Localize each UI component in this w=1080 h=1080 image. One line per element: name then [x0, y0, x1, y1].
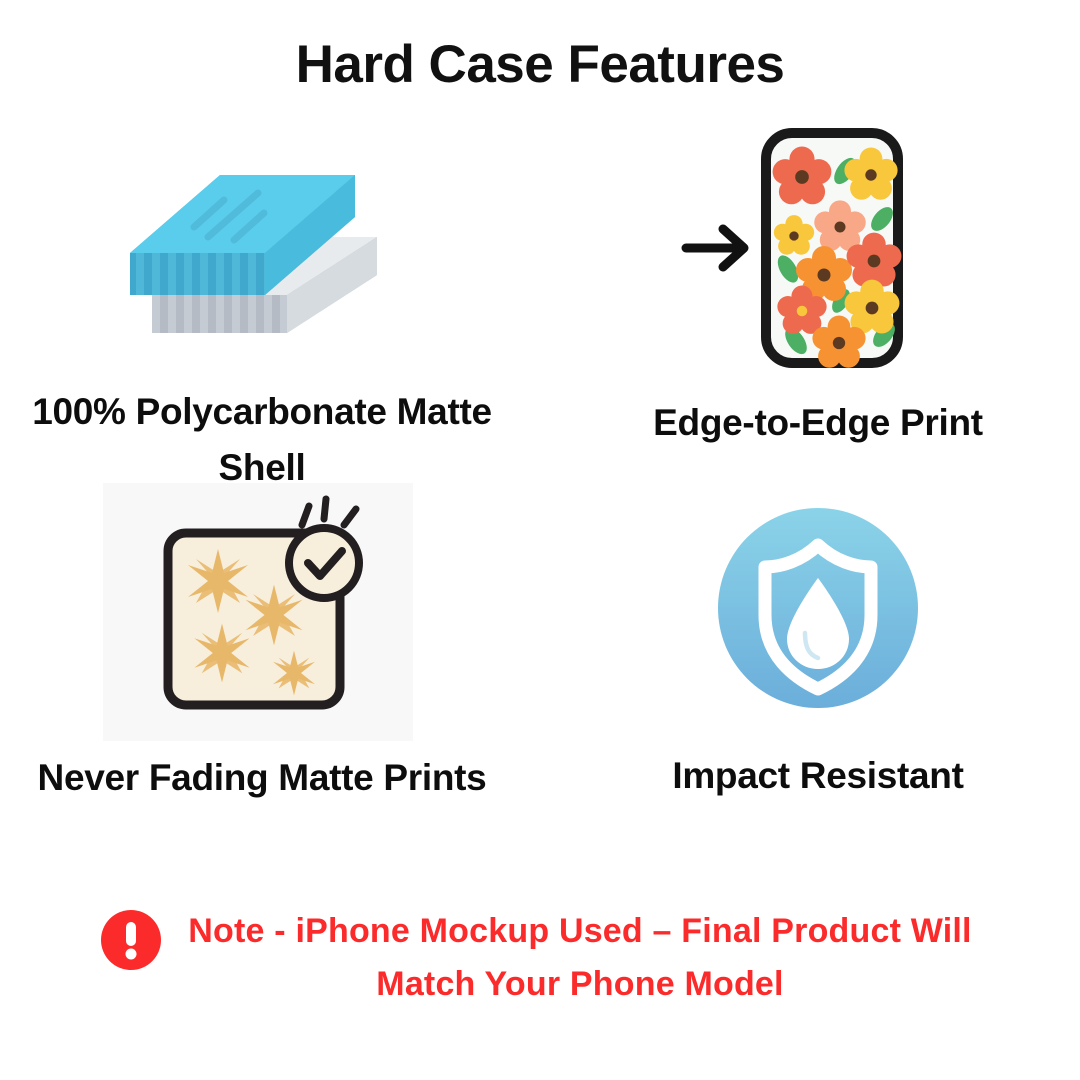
feature-label-edgeprint: Edge-to-Edge Print — [578, 395, 1058, 451]
floral-phone-case-icon — [668, 123, 968, 373]
shield-droplet-icon — [713, 503, 923, 713]
feature-label-neverfading: Never Fading Matte Prints — [22, 750, 502, 806]
page-title: Hard Case Features — [0, 36, 1080, 94]
exclamation-circle-icon — [100, 909, 162, 971]
feature-label-impact: Impact Resistant — [578, 748, 1058, 804]
check-circle-icon — [289, 528, 359, 598]
arrow-right-icon — [686, 229, 744, 267]
note-text: Note - iPhone Mockup Used – Final Produc… — [180, 905, 980, 1010]
feature-card-neverfading: Never Fading Matte Prints — [22, 470, 502, 806]
feature-art-neverfading — [22, 470, 502, 742]
feature-card-edgeprint: Edge-to-Edge Print — [578, 120, 1058, 451]
sparkle-square-check-icon — [132, 481, 392, 731]
layered-slabs-icon — [112, 145, 412, 365]
feature-card-polycarbonate: 100% Polycarbonate Matte Shell — [22, 140, 502, 495]
shine-rays-icon — [302, 499, 356, 525]
note-bar: Note - iPhone Mockup Used – Final Produc… — [0, 905, 1080, 1010]
feature-art-impact — [578, 495, 1058, 720]
feature-card-impact: Impact Resistant — [578, 495, 1058, 804]
feature-art-polycarbonate — [22, 140, 502, 370]
feature-art-edgeprint — [578, 120, 1058, 375]
